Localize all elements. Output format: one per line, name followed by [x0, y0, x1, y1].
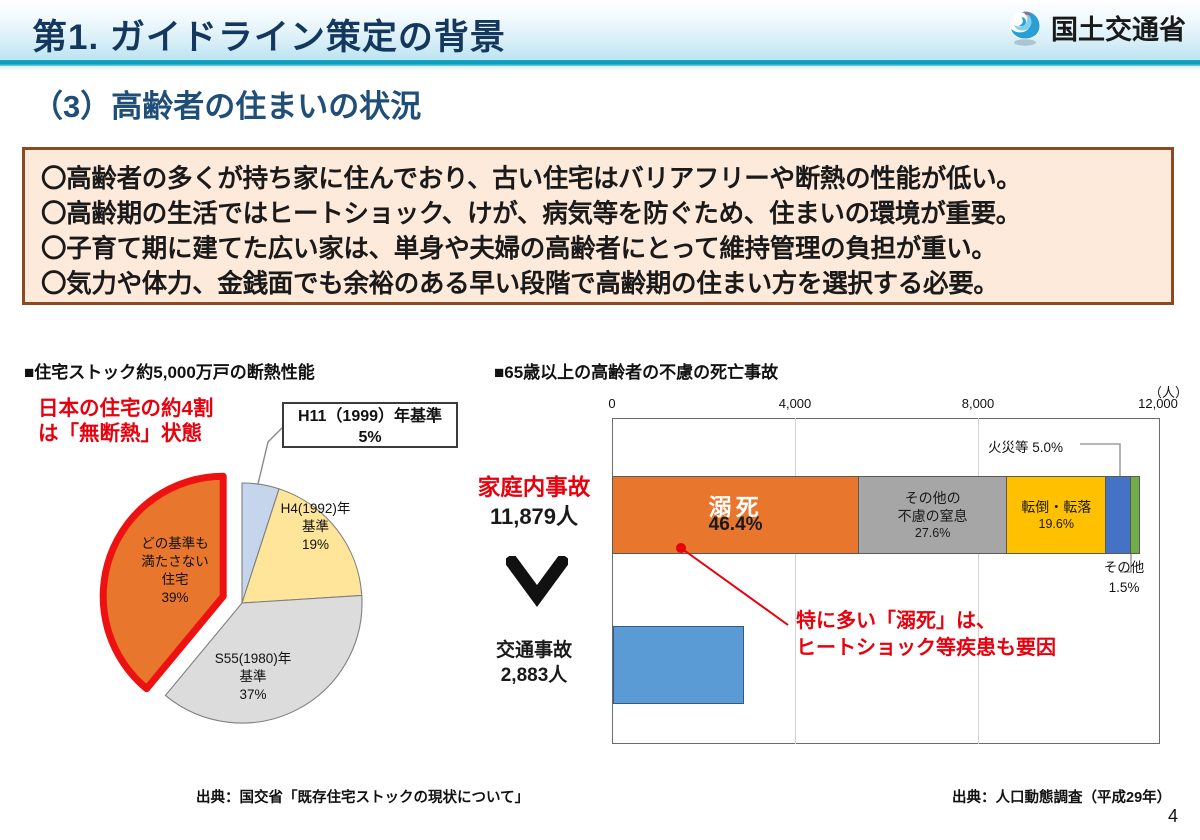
bullet-item: 〇高齢者の多くが持ち家に住んでおり、古い住宅はバリアフリーや断熱の性能が低い。 [41, 162, 1157, 197]
section-heading: （3）高齢者の住まいの状況 [32, 81, 421, 126]
pie-label-s55: S55(1980)年 基準 37% [188, 650, 318, 704]
pie-callout-box-h11: H11（1999）年基準 5% [282, 402, 458, 448]
pie-label-line1: S55(1980)年 [188, 650, 318, 668]
bullet-item: 〇子育て期に建てた広い家は、単身や夫婦の高齢者にとって維持管理の負担が重い。 [41, 232, 1157, 267]
red-annotation-pointer [480, 388, 1200, 768]
bar-chart: 0 4,000 8,000 12,000 （人） 溺死 46.4% その他の 不… [480, 388, 1200, 768]
header-divider-rule-soft [0, 66, 1200, 71]
pie-label-line1: どの基準も [110, 535, 240, 553]
bullet-item: 〇気力や体力、金銭面でも余裕のある早い段階で高齢期の住まい方を選択する必要。 [41, 267, 1157, 302]
pie-label-pct: 19% [258, 536, 373, 554]
pie-label-line1: H4(1992)年 [258, 500, 373, 518]
summary-bullet-box: 〇高齢者の多くが持ち家に住んでおり、古い住宅はバリアフリーや断熱の性能が低い。 … [22, 147, 1174, 305]
pie-label-pct: 37% [188, 686, 318, 704]
page-number: 4 [1168, 806, 1178, 827]
pie-callout-box-line1: H11（1999）年基準 [284, 406, 456, 427]
pie-label-line3: 住宅 [110, 571, 240, 589]
pie-label-pct: 39% [110, 589, 240, 607]
page-title: 第1. ガイドライン策定の背景 [32, 9, 506, 60]
mlit-logo-text: 国土交通省 [1051, 8, 1186, 47]
pie-label-line2: 基準 [188, 668, 318, 686]
pie-label-line2: 満たさない [110, 553, 240, 571]
pie-chart-source: 出典：国交省「既存住宅ストックの現状について」 [196, 786, 529, 807]
mlit-swirl-logo-icon [1008, 9, 1042, 47]
bar-chart-source: 出典：人口動態調査（平成29年） [952, 786, 1171, 807]
bar-red-annotation-line1: 特に多い「溺死」は、 [796, 608, 1056, 635]
bar-chart-title: ■65歳以上の高齢者の不慮の死亡事故 [494, 358, 778, 383]
pie-callout-box-line2: 5% [284, 427, 456, 448]
pie-label-line2: 基準 [258, 518, 373, 536]
slide-root: 第1. ガイドライン策定の背景 国土交通省 （3）高齢者の住まいの状況 〇高齢者… [0, 0, 1200, 840]
mlit-logo: 国土交通省 [1008, 8, 1186, 47]
pie-label-no-standard: どの基準も 満たさない 住宅 39% [110, 535, 240, 607]
bar-red-annotation-line2: ヒートショック等疾患も要因 [796, 635, 1056, 662]
bar-red-annotation: 特に多い「溺死」は、 ヒートショック等疾患も要因 [796, 608, 1056, 662]
bullet-item: 〇高齢期の生活ではヒートショック、けが、病気等を防ぐため、住まいの環境が重要。 [41, 197, 1157, 232]
pie-label-h4: H4(1992)年 基準 19% [258, 500, 373, 554]
